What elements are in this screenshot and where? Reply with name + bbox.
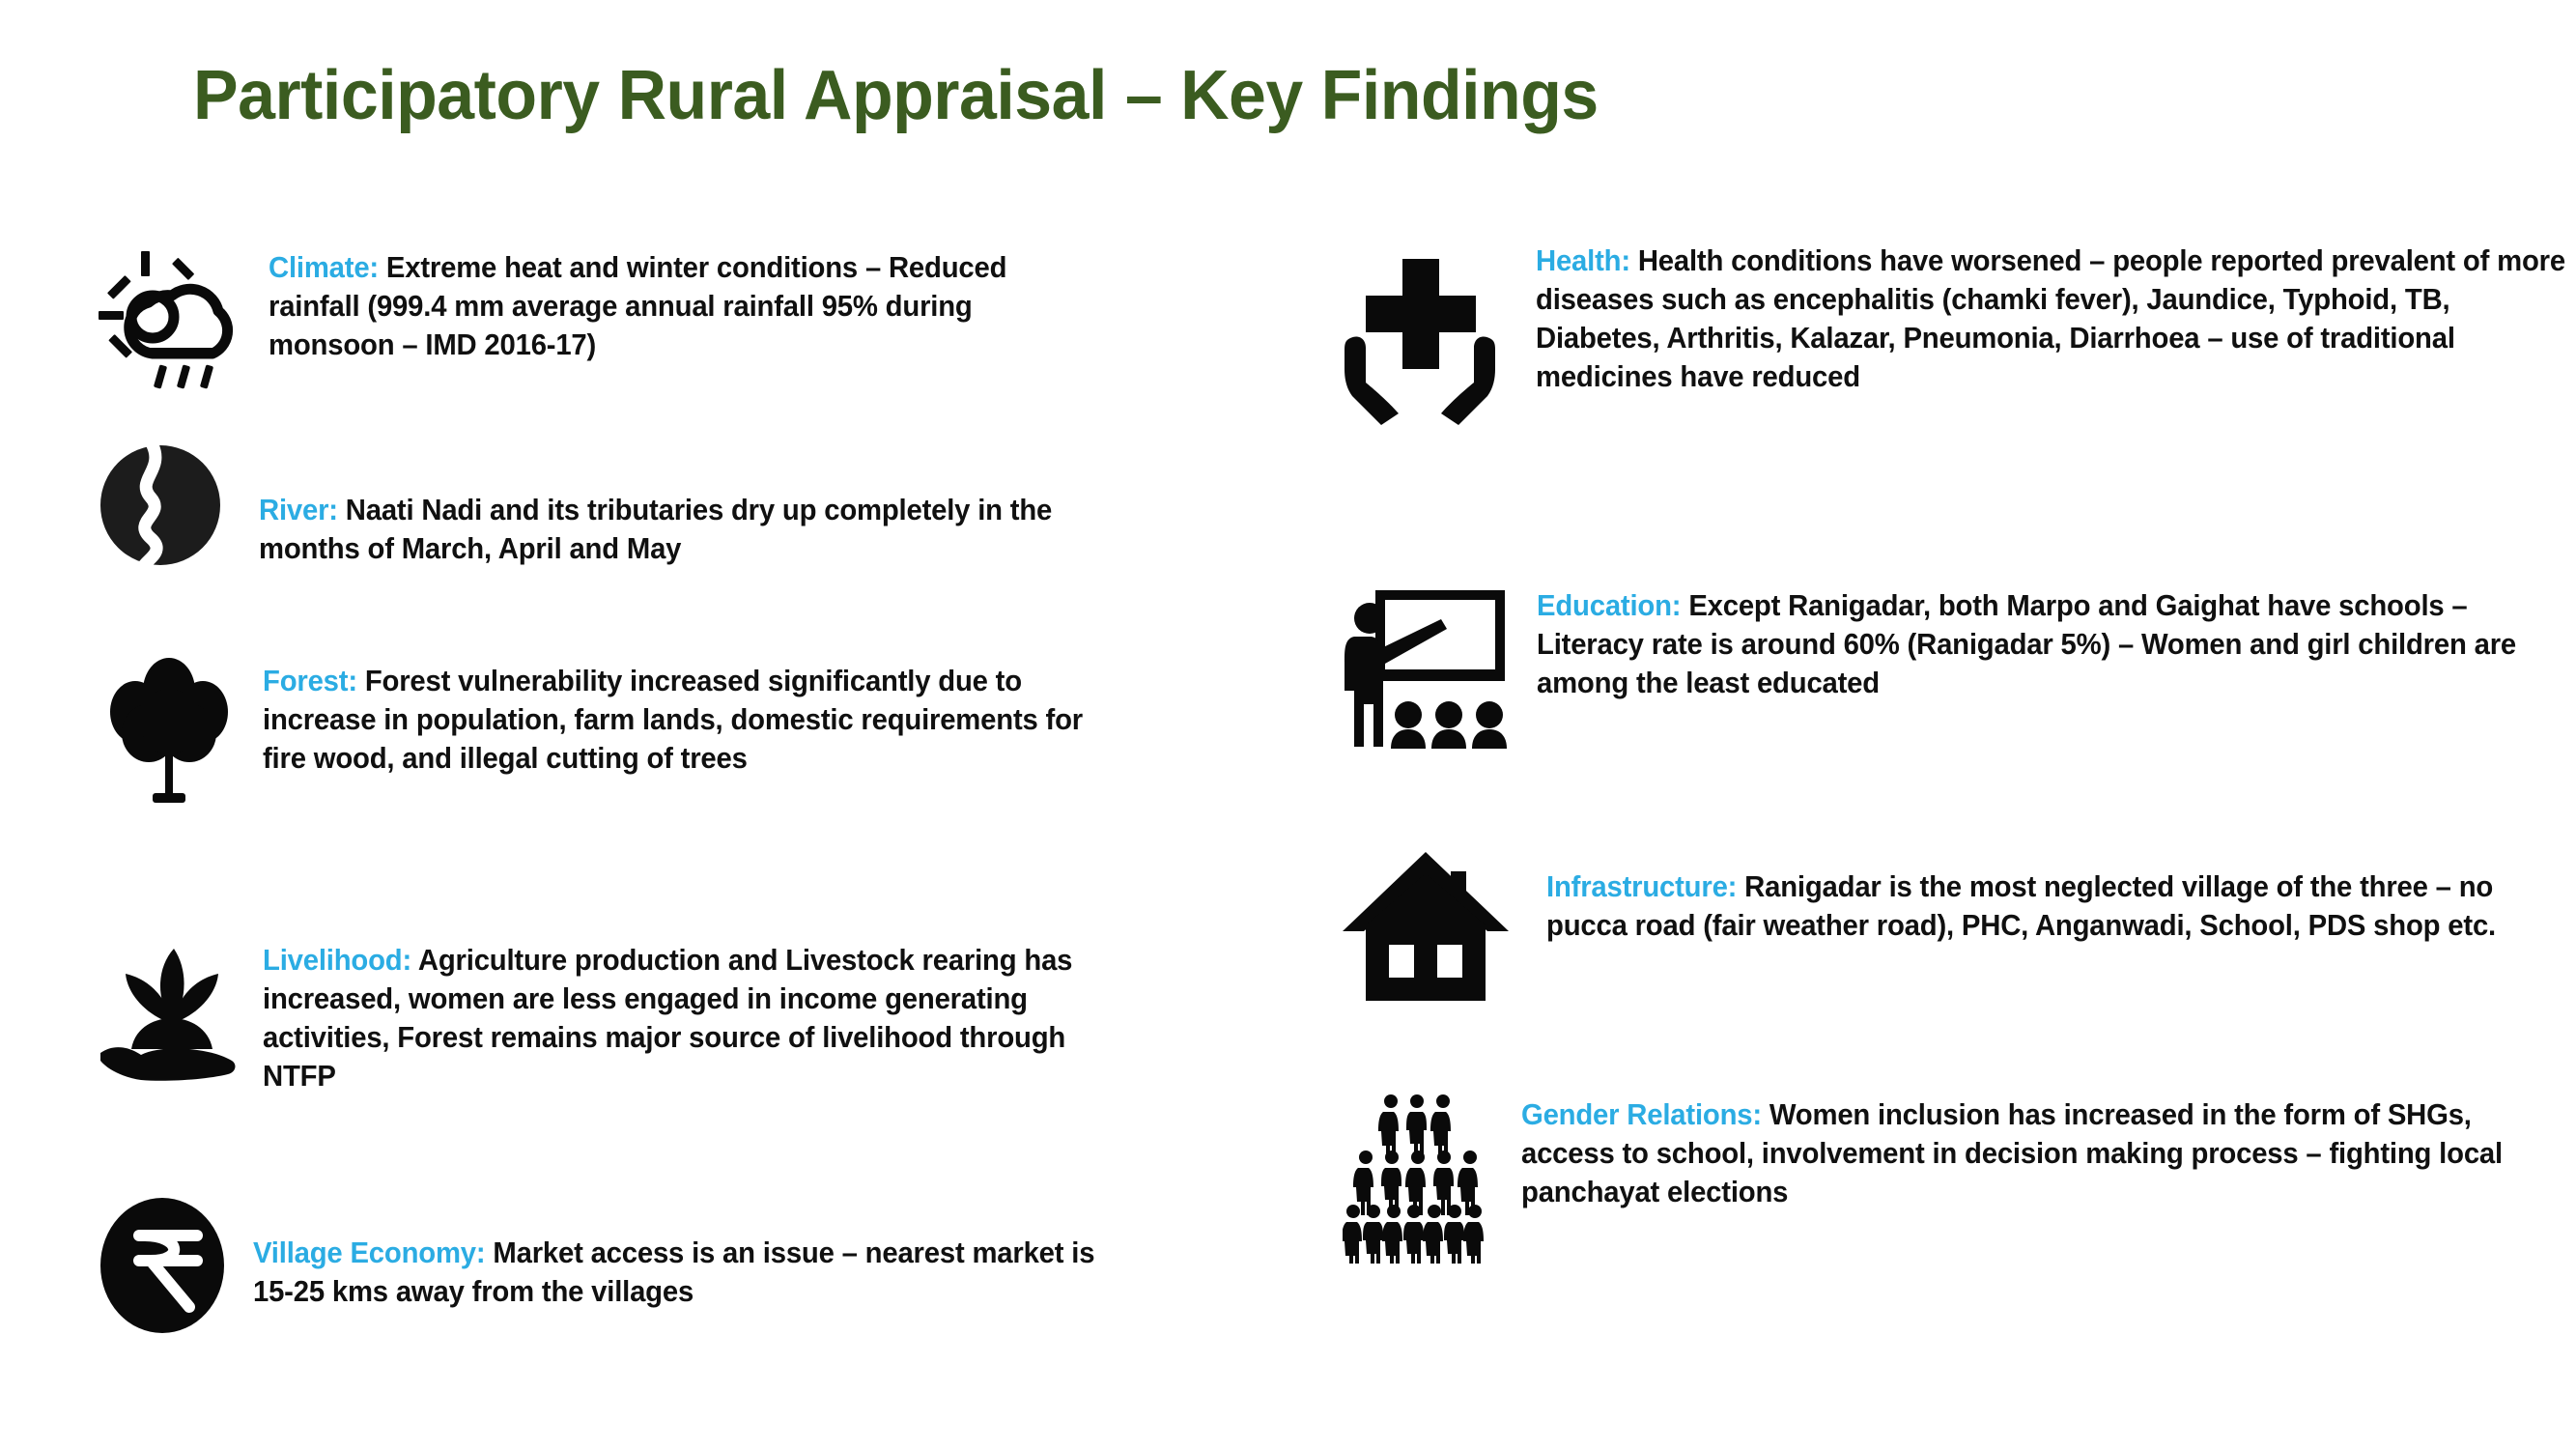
finding-label: Health: bbox=[1536, 244, 1630, 277]
rupee-coin-icon bbox=[97, 1193, 232, 1338]
hand-plant-icon bbox=[97, 935, 241, 1094]
finding-text: Forest: Forest vulnerability increased s… bbox=[263, 662, 1097, 778]
finding-livelihood: Livelihood: Agriculture production and L… bbox=[97, 935, 1132, 1095]
finding-river: River: Naati Nadi and its tributaries dr… bbox=[97, 438, 1109, 573]
finding-label: Livelihood: bbox=[263, 944, 411, 977]
page-title: Participatory Rural Appraisal – Key Find… bbox=[193, 56, 1599, 135]
medical-cross-hands-icon bbox=[1343, 241, 1497, 425]
finding-climate: Climate: Extreme heat and winter conditi… bbox=[97, 241, 1118, 391]
teacher-whiteboard-icon bbox=[1343, 582, 1512, 752]
finding-text: Livelihood: Agriculture production and L… bbox=[263, 941, 1097, 1095]
finding-label: Climate: bbox=[269, 251, 379, 284]
finding-infrastructure: Infrastructure: Ranigadar is the most ne… bbox=[1343, 850, 2576, 1005]
tree-icon bbox=[97, 652, 241, 811]
finding-text: Infrastructure: Ranigadar is the most ne… bbox=[1546, 867, 2566, 945]
finding-gender-relations: Gender Relations: Women inclusion has in… bbox=[1343, 1090, 2576, 1264]
finding-label: Forest: bbox=[263, 665, 357, 697]
finding-body: Naati Nadi and its tributaries dry up co… bbox=[259, 494, 1052, 565]
finding-label: Education: bbox=[1537, 589, 1681, 622]
finding-text: Village Economy: Market access is an iss… bbox=[253, 1234, 1097, 1311]
slide-canvas: Participatory Rural Appraisal – Key Find… bbox=[0, 0, 2576, 1449]
finding-label: River: bbox=[259, 494, 338, 526]
finding-village-economy: Village Economy: Market access is an iss… bbox=[97, 1193, 1132, 1338]
finding-health: Health: Health conditions have worsened … bbox=[1343, 241, 2576, 425]
finding-forest: Forest: Forest vulnerability increased s… bbox=[97, 652, 1132, 811]
finding-label: Infrastructure: bbox=[1546, 870, 1737, 903]
house-icon bbox=[1343, 850, 1512, 1005]
finding-body: Except Ranigadar, both Marpo and Gaighat… bbox=[1537, 589, 2516, 699]
finding-text: Gender Relations: Women inclusion has in… bbox=[1521, 1095, 2560, 1211]
finding-text: Health: Health conditions have worsened … bbox=[1536, 241, 2574, 396]
finding-text: River: Naati Nadi and its tributaries dr… bbox=[259, 491, 1075, 568]
finding-body: Forest vulnerability increased significa… bbox=[263, 665, 1083, 775]
finding-label: Village Economy: bbox=[253, 1236, 485, 1269]
sun-cloud-rain-icon bbox=[97, 241, 241, 391]
finding-body: Health conditions have worsened – people… bbox=[1536, 244, 2565, 393]
people-pyramid-icon bbox=[1343, 1090, 1492, 1264]
river-circle-icon bbox=[97, 438, 232, 573]
finding-body: Extreme heat and winter conditions – Red… bbox=[269, 251, 1006, 361]
finding-education: Education: Except Ranigadar, both Marpo … bbox=[1343, 582, 2576, 752]
finding-text: Climate: Extreme heat and winter conditi… bbox=[269, 248, 1085, 364]
finding-text: Education: Except Ranigadar, both Marpo … bbox=[1537, 586, 2566, 702]
finding-label: Gender Relations: bbox=[1521, 1098, 1762, 1131]
